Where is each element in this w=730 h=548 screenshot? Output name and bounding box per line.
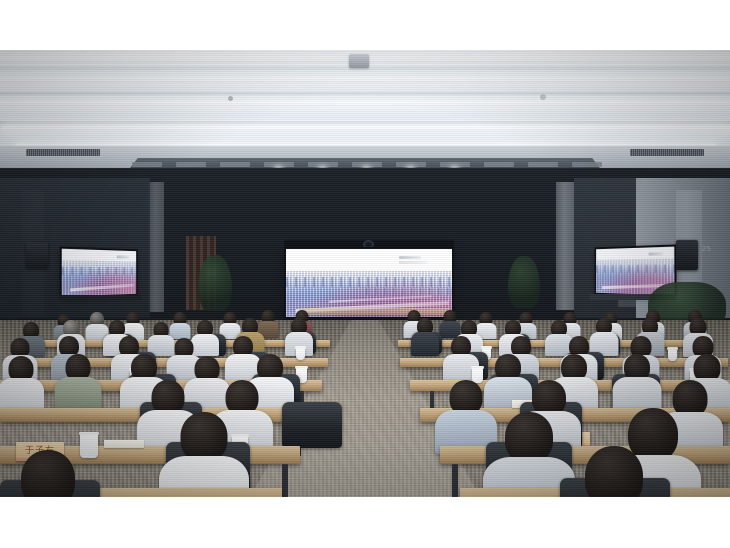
left-side-screen[interactable]	[62, 249, 136, 297]
wall-pillar-left	[148, 182, 164, 312]
ceiling-sprinkler	[540, 94, 546, 100]
screenshot-root: 25	[0, 0, 730, 548]
potted-plant-left	[198, 255, 232, 311]
screen-watermark	[399, 256, 421, 259]
ceiling-sensor-box	[349, 54, 369, 68]
wall-speaker-left	[26, 242, 48, 268]
left-screen-mount	[60, 295, 142, 300]
wall-speaker-right	[676, 240, 698, 270]
ceiling-light-strip	[0, 77, 730, 83]
front-presenter-desk	[300, 308, 450, 315]
ceiling-light-strip	[0, 101, 730, 106]
wall-sign-right: 25	[702, 246, 712, 253]
screen-camera-icon	[365, 242, 372, 247]
potted-plant-right	[508, 256, 540, 308]
ceiling-vent-grille-right	[630, 149, 704, 156]
wall-pillar-right	[556, 182, 574, 310]
conference-room-photograph: 25	[0, 50, 730, 497]
handout-paper	[104, 440, 144, 448]
right-screen-label-plate	[618, 300, 636, 307]
ceiling-vent-grille-left	[26, 149, 100, 156]
teacup	[296, 348, 305, 360]
ceiling-smoke-detector	[228, 96, 233, 101]
ceiling-light-strip	[2, 126, 730, 131]
teacup	[668, 349, 677, 361]
screen-watermark-underline	[399, 261, 427, 264]
main-presentation-screen[interactable]	[286, 249, 452, 317]
